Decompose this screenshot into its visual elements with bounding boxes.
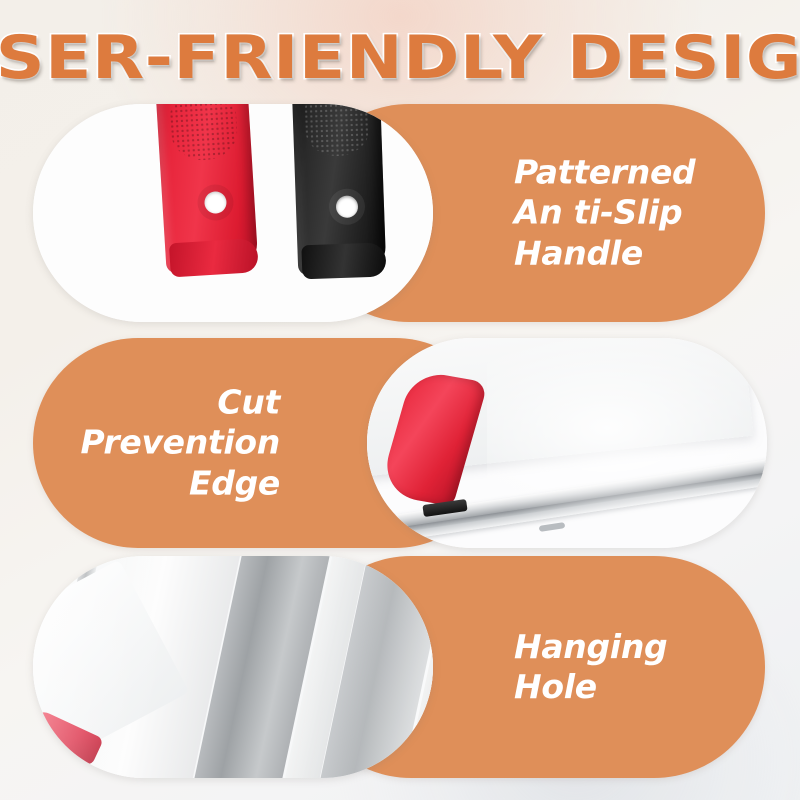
photo-blade-edge-side-view — [367, 338, 767, 548]
panel-3-caption: Hanging Hole — [514, 627, 764, 708]
feature-panel-patterned-anti-slip-handle: Patterned An ti-Slip Handle — [0, 104, 800, 322]
panel-3-photo — [33, 556, 433, 778]
panel-3-caption-line-1: Hanging — [514, 627, 764, 667]
panel-2-photo — [367, 338, 767, 548]
page-header: USER-FRIENDLY DESIGN — [0, 18, 800, 98]
page-title: USER-FRIENDLY DESIGN — [0, 28, 800, 88]
feature-panel-cut-prevention-edge: Cut Prevention Edge — [0, 338, 800, 548]
panel-1-photo — [33, 104, 433, 322]
metal-sheen-overlay — [33, 556, 433, 778]
panel-2-caption-line-1: Cut — [30, 383, 280, 423]
panel-1-caption-line-2: An ti-Slip — [514, 193, 764, 233]
panel-3-caption-line-2: Hole — [514, 667, 764, 707]
panel-1-caption-line-1: Patterned — [514, 153, 764, 193]
panel-2-caption: Cut Prevention Edge — [30, 383, 280, 504]
feature-panel-hanging-hole: Hanging Hole — [0, 556, 800, 778]
photo-stacked-blades — [33, 556, 433, 778]
black-handle-image — [292, 104, 387, 275]
photo-red-black-handles — [33, 104, 433, 322]
photo-highlight-glow — [487, 338, 767, 528]
panel-2-caption-line-2: Prevention — [30, 423, 280, 463]
panel-2-caption-line-3: Edge — [30, 463, 280, 503]
red-handle-foot — [169, 238, 259, 277]
panel-1-caption: Patterned An ti-Slip Handle — [514, 153, 764, 274]
panel-1-caption-line-3: Handle — [514, 233, 764, 273]
black-handle-foot — [301, 242, 387, 279]
red-handle-image — [155, 104, 258, 274]
